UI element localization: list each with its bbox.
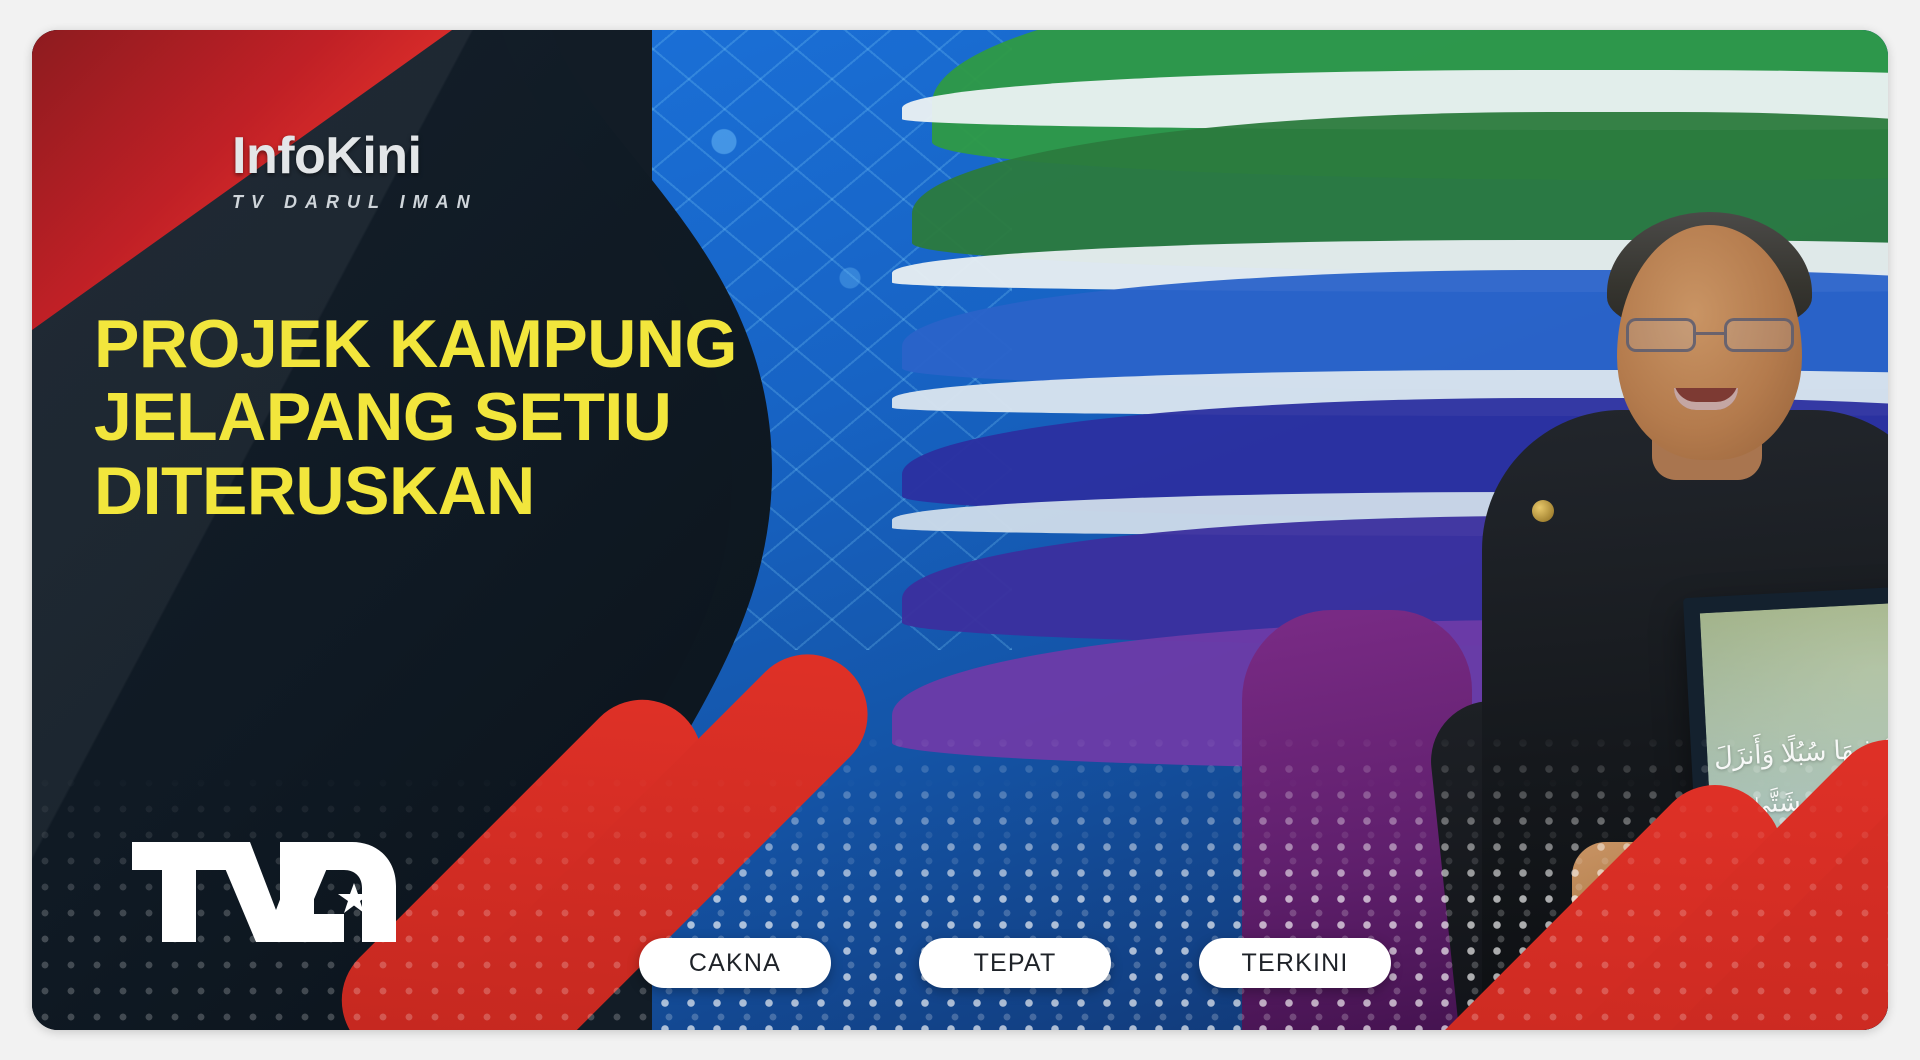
headline-line-2: JELAPANG SETIU bbox=[94, 381, 734, 454]
tagline-pill-cakna[interactable]: CAKNA bbox=[639, 938, 831, 988]
tagline-pill-terkini[interactable]: TERKINI bbox=[1199, 938, 1391, 988]
tvd-logo-mark bbox=[130, 836, 400, 948]
brand-block: InfoKini TV DARUL IMAN bbox=[232, 130, 478, 213]
headline-line-1: PROJEK KAMPUNG bbox=[94, 308, 734, 381]
tagline-row: CAKNA TEPAT TERKINI bbox=[32, 938, 1888, 988]
tagline-label: CAKNA bbox=[689, 949, 781, 978]
brand-subtitle: TV DARUL IMAN bbox=[232, 192, 478, 213]
brand-title: InfoKini bbox=[232, 130, 478, 182]
headline-line-3: DITERUSKAN bbox=[94, 455, 734, 528]
eyeglasses-icon bbox=[1624, 318, 1796, 352]
news-thumbnail-card: RA KAMARUZAMAN bbox=[32, 30, 1888, 1030]
lapel-pin-icon bbox=[1532, 500, 1554, 522]
tagline-label: TERKINI bbox=[1241, 949, 1348, 978]
tagline-label: TEPAT bbox=[974, 949, 1057, 978]
tagline-pill-tepat[interactable]: TEPAT bbox=[919, 938, 1111, 988]
headline-text: PROJEK KAMPUNG JELAPANG SETIU DITERUSKAN bbox=[94, 308, 734, 528]
tvd-logo bbox=[130, 836, 400, 948]
